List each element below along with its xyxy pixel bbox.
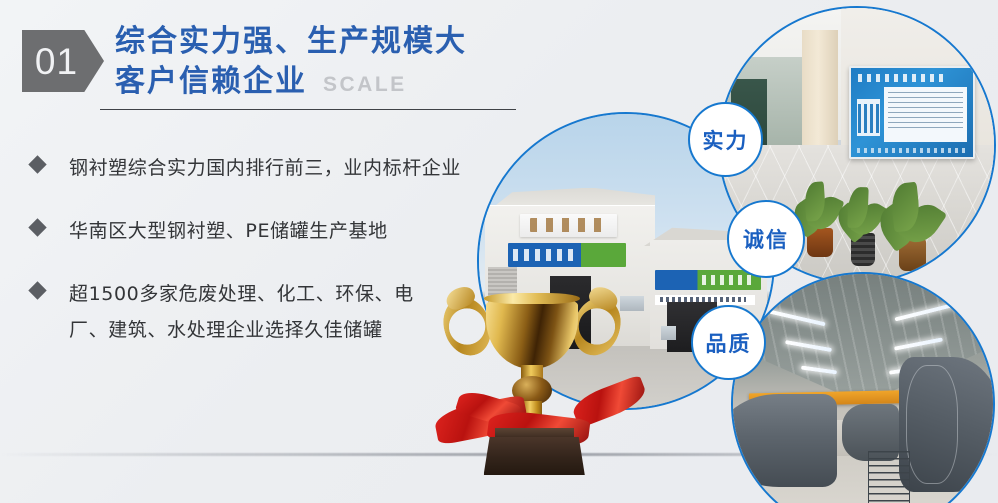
diamond-bullet-icon bbox=[28, 281, 46, 299]
trophy-rim bbox=[484, 293, 581, 304]
company-name-sign bbox=[520, 214, 617, 238]
board-chart-panel bbox=[857, 99, 880, 136]
headline-line-2: 客户信赖企业 bbox=[115, 62, 307, 102]
list-item-text: 钢衬塑综合实力国内排行前三，业内标杆企业 bbox=[69, 150, 461, 186]
section-number-badge: 01 bbox=[22, 30, 104, 92]
storage-tank-left bbox=[731, 394, 837, 488]
section-number-label: 01 bbox=[35, 43, 91, 80]
board-footer-bar bbox=[857, 148, 967, 153]
badge-chengxin[interactable]: 诚信 bbox=[727, 200, 805, 278]
photo-cluster: 实力 诚信 品质 bbox=[455, 0, 998, 503]
potted-plant bbox=[884, 178, 939, 271]
potted-plant bbox=[841, 183, 885, 265]
warehouse-interior-photo[interactable] bbox=[731, 272, 995, 503]
list-item: 钢衬塑综合实力国内排行前三，业内标杆企业 bbox=[22, 150, 492, 186]
information-board bbox=[849, 66, 975, 159]
badge-chengxin-label: 诚信 bbox=[743, 224, 789, 254]
list-item-line-2: 厂、建筑、水处理企业选择久佳储罐 bbox=[69, 312, 414, 348]
list-item-text: 超1500多家危废处理、化工、环保、电 厂、建筑、水处理企业选择久佳储罐 bbox=[69, 276, 414, 348]
window bbox=[661, 326, 676, 341]
list-item-line-1: 超1500多家危废处理、化工、环保、电 bbox=[69, 283, 414, 305]
badge-pinzhi-label: 品质 bbox=[706, 328, 752, 358]
diamond-bullet-icon bbox=[28, 218, 46, 236]
promo-banner: 01 综合实力强、生产规模大 客户信赖企业 SCALE 钢衬塑综合实力国内排行前… bbox=[0, 0, 998, 503]
list-item: 华南区大型钢衬塑、PE储罐生产基地 bbox=[22, 213, 492, 249]
header-divider bbox=[100, 109, 516, 110]
access-ladder bbox=[868, 451, 910, 503]
trophy-cup bbox=[486, 300, 578, 370]
gold-trophy-with-red-ribbon bbox=[422, 250, 642, 475]
headline-english-label: SCALE bbox=[323, 71, 407, 99]
trophy-base bbox=[484, 437, 585, 475]
board-title-bar bbox=[858, 74, 948, 82]
diamond-bullet-icon bbox=[28, 155, 46, 173]
list-item-line-1: 华南区大型钢衬塑、PE储罐生产基地 bbox=[69, 220, 388, 242]
list-item-line-1: 钢衬塑综合实力国内排行前三，业内标杆企业 bbox=[69, 157, 461, 179]
badge-pinzhi[interactable]: 品质 bbox=[691, 305, 766, 380]
badge-shili-label: 实力 bbox=[703, 125, 749, 155]
badge-shili[interactable]: 实力 bbox=[688, 102, 763, 177]
storage-tank-right bbox=[899, 357, 995, 492]
list-item-text: 华南区大型钢衬塑、PE储罐生产基地 bbox=[69, 213, 388, 249]
board-text-panel bbox=[884, 87, 967, 142]
